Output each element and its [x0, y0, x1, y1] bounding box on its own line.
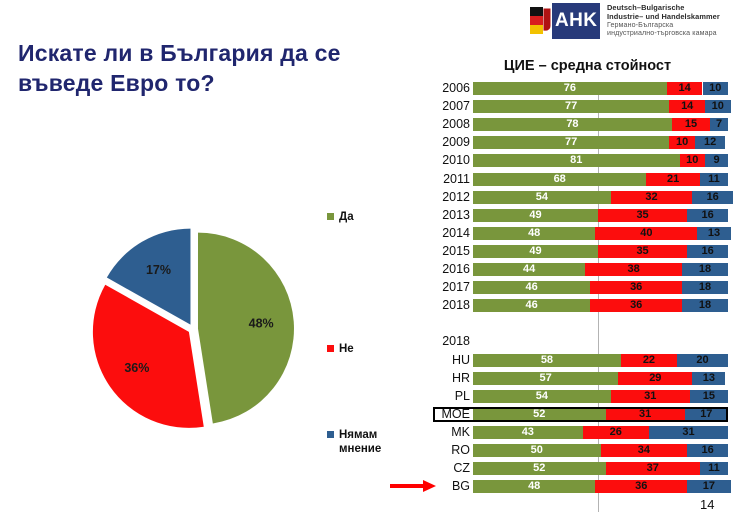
chart-segment-Да: 52 [473, 462, 606, 475]
chart-row: 2013493516 [425, 209, 728, 222]
chart-row-label: HR [425, 371, 470, 385]
chart-row: 2017463618 [425, 281, 728, 294]
chart-row: HR572913 [425, 372, 728, 385]
chart-segment-Не: 36 [595, 480, 687, 493]
logo-line-4: индустриално-търговска камара [607, 29, 720, 37]
chart-segment-Нямам мнение: 10 [703, 82, 729, 95]
chart-segment-Да: 57 [473, 372, 618, 385]
chart-row: MK432631 [425, 426, 728, 439]
chart-segment-Да: 43 [473, 426, 583, 439]
chart-row-track: 493516 [473, 209, 728, 222]
chart-row: 2011682111 [425, 173, 728, 186]
chart-row-track: 582220 [473, 354, 728, 367]
chart-row: 2006761410 [425, 82, 728, 95]
chart-segment-Да: 68 [473, 173, 646, 186]
chart-row-track: 463618 [473, 299, 728, 312]
chart-segment-Нямам мнение: 13 [697, 227, 730, 240]
chart-row-track: 543216 [473, 191, 728, 204]
bar-chart: 14 2006761410200777141020087815720097710… [425, 82, 735, 512]
chart-segment-Да: 49 [473, 245, 598, 258]
pie-slice-label-1: 48% [249, 317, 274, 331]
slide-title-line-1: Искате ли в България да се [18, 38, 418, 68]
chart-segment-Не: 10 [669, 136, 695, 149]
legend-swatch-icon-1 [327, 213, 334, 220]
chart-row-label: 2018 [425, 298, 470, 312]
bar-chart-title: ЦИЕ – средна стойност [440, 58, 735, 74]
chart-row: CZ523711 [425, 462, 728, 475]
chart-segment-Нямам мнение: 18 [682, 299, 728, 312]
chart-row-track: 432631 [473, 426, 728, 439]
chart-segment-Не: 32 [611, 191, 693, 204]
chart-row-track: 523711 [473, 462, 728, 475]
legend-swatch-icon-2 [327, 345, 334, 352]
highlight-box-moe [433, 407, 728, 422]
slide-title-line-2: въведе Евро то? [18, 68, 418, 98]
chart-row: 2007771410 [425, 100, 728, 113]
pie-slice-label-2: 36% [124, 361, 149, 375]
chart-segment-Да: 48 [473, 227, 595, 240]
chart-segment-Не: 36 [590, 281, 682, 294]
legend-item-3: Нямам мнение [327, 428, 401, 456]
chart-row-label: PL [425, 389, 470, 403]
chart-segment-Не: 31 [611, 390, 690, 403]
chart-row-track: 484013 [473, 227, 728, 240]
chart-segment-Не: 15 [672, 118, 710, 131]
chart-row: 2018463618 [425, 299, 728, 312]
chart-row-label: HU [425, 353, 470, 367]
chart-segment-Не: 37 [606, 462, 700, 475]
chart-row: 200878157 [425, 118, 728, 131]
pie-slice-label-3: 17% [146, 263, 171, 277]
chart-segment-Нямам мнение: 7 [710, 118, 728, 131]
chart-row: 2016443818 [425, 263, 728, 276]
chart-row-label: MK [425, 425, 470, 439]
chart-segment-Нямам мнение: 9 [705, 154, 728, 167]
chart-segment-Нямам мнение: 10 [705, 100, 731, 113]
chart-segment-Не: 35 [598, 245, 687, 258]
chart-row-track: 771012 [473, 136, 728, 149]
chart-segment-Да: 50 [473, 444, 601, 457]
chart-segment-Не: 36 [590, 299, 682, 312]
chart-segment-Да: 54 [473, 191, 611, 204]
chart-segment-Да: 58 [473, 354, 621, 367]
chart-row-track: 572913 [473, 372, 728, 385]
logo-company-text: Deutsch–Bulgarische Industrie– und Hande… [607, 4, 720, 38]
chart-row: 201081109 [425, 154, 728, 167]
chart-row-track: 543115 [473, 390, 728, 403]
chart-segment-Нямам мнение: 18 [682, 263, 728, 276]
chart-row-track: 761410 [473, 82, 728, 95]
chart-row-track: 463618 [473, 281, 728, 294]
chart-segment-Нямам мнение: 17 [687, 480, 730, 493]
chart-segment-Не: 40 [595, 227, 697, 240]
chart-segment-Не: 35 [598, 209, 687, 222]
chart-row-label: 2012 [425, 190, 470, 204]
chart-segment-Да: 76 [473, 82, 667, 95]
chart-row-track: 443818 [473, 263, 728, 276]
chart-segment-Нямам мнение: 18 [682, 281, 728, 294]
chart-row-label: 2016 [425, 262, 470, 276]
chart-segment-Да: 46 [473, 299, 590, 312]
chart-row-track: 483617 [473, 480, 728, 493]
legend-swatch-icon-3 [327, 431, 334, 438]
chart-row-track: 503416 [473, 444, 728, 457]
chart-segment-Не: 26 [583, 426, 649, 439]
chart-row: 2014484013 [425, 227, 728, 240]
chart-row-label: 2014 [425, 226, 470, 240]
chart-row-label: 2018 [425, 334, 470, 348]
chart-segment-Да: 77 [473, 136, 669, 149]
chart-segment-Нямам мнение: 11 [700, 173, 728, 186]
legend-label-1: Да [339, 210, 354, 224]
chart-segment-Да: 48 [473, 480, 595, 493]
chart-segment-Нямам мнение: 16 [687, 444, 728, 457]
chart-segment-Не: 21 [646, 173, 700, 186]
chart-row-label: 2009 [425, 135, 470, 149]
chart-segment-Да: 77 [473, 100, 669, 113]
chart-row-label: RO [425, 443, 470, 457]
ahk-logo: AHK Deutsch–Bulgarische Industrie– und H… [528, 2, 738, 40]
chart-segment-Не: 10 [680, 154, 706, 167]
chart-row-header: 2018 [425, 335, 728, 348]
chart-segment-Не: 14 [669, 100, 705, 113]
legend-label-2: Не [339, 342, 354, 356]
legend-item-2: Не [327, 342, 354, 356]
chart-row-label: 2011 [425, 172, 470, 186]
chart-segment-Не: 14 [667, 82, 703, 95]
pie-chart: 48%36%17% [75, 222, 310, 437]
chart-segment-Нямам мнение: 12 [695, 136, 726, 149]
chart-segment-Нямам мнение: 13 [692, 372, 725, 385]
chart-segment-Нямам мнение: 20 [677, 354, 728, 367]
chart-row: RO503416 [425, 444, 728, 457]
chart-segment-Не: 34 [601, 444, 688, 457]
logo-line-2: Industrie– und Handelskammer [607, 13, 720, 21]
chart-row: 2015493516 [425, 245, 728, 258]
chart-segment-Да: 49 [473, 209, 598, 222]
chart-segment-Не: 29 [618, 372, 692, 385]
chart-segment-Нямам мнение: 16 [687, 209, 728, 222]
chart-row-label: 2007 [425, 99, 470, 113]
chart-row: BG483617 [425, 480, 728, 493]
chart-segment-Да: 81 [473, 154, 680, 167]
chart-row-spacer [425, 317, 728, 330]
chart-segment-Нямам мнение: 31 [649, 426, 728, 439]
pointer-arrow-icon [390, 479, 438, 493]
slide-title: Искате ли в България да се въведе Евро т… [18, 38, 418, 98]
chart-row-label: 2008 [425, 117, 470, 131]
logo-line-3: Германо-Българска [607, 21, 720, 29]
chart-row-track: 78157 [473, 118, 728, 131]
chart-row-label: 2015 [425, 244, 470, 258]
pie-slice-1 [198, 233, 294, 424]
chart-row-track: 771410 [473, 100, 728, 113]
chart-row-label: 2017 [425, 280, 470, 294]
chart-segment-Да: 46 [473, 281, 590, 294]
legend-item-1: Да [327, 210, 354, 224]
chart-row: HU582220 [425, 354, 728, 367]
page-number: 14 [700, 497, 714, 512]
chart-row-label: 2010 [425, 153, 470, 167]
chart-segment-Нямам мнение: 16 [692, 191, 733, 204]
logo-ahk-text: AHK [555, 6, 600, 36]
chart-row-label: 2006 [425, 81, 470, 95]
chart-segment-Не: 38 [585, 263, 682, 276]
chart-row-label: 2013 [425, 208, 470, 222]
pie-chart-svg: 48%36%17% [75, 222, 310, 437]
chart-segment-Да: 78 [473, 118, 672, 131]
chart-segment-Да: 44 [473, 263, 585, 276]
chart-row-label: CZ [425, 461, 470, 475]
chart-segment-Нямам мнение: 16 [687, 245, 728, 258]
chart-row-track: 682111 [473, 173, 728, 186]
chart-row-track: 81109 [473, 154, 728, 167]
chart-segment-Да: 54 [473, 390, 611, 403]
chart-row: 2012543216 [425, 191, 728, 204]
chart-row-track: 493516 [473, 245, 728, 258]
chart-row: PL543115 [425, 390, 728, 403]
legend-label-3: Нямам мнение [339, 428, 401, 456]
chart-segment-Не: 22 [621, 354, 677, 367]
chart-row: 2009771012 [425, 136, 728, 149]
chart-segment-Нямам мнение: 11 [700, 462, 728, 475]
ahk-logo-mark: AHK [528, 3, 600, 39]
chart-segment-Нямам мнение: 15 [690, 390, 728, 403]
